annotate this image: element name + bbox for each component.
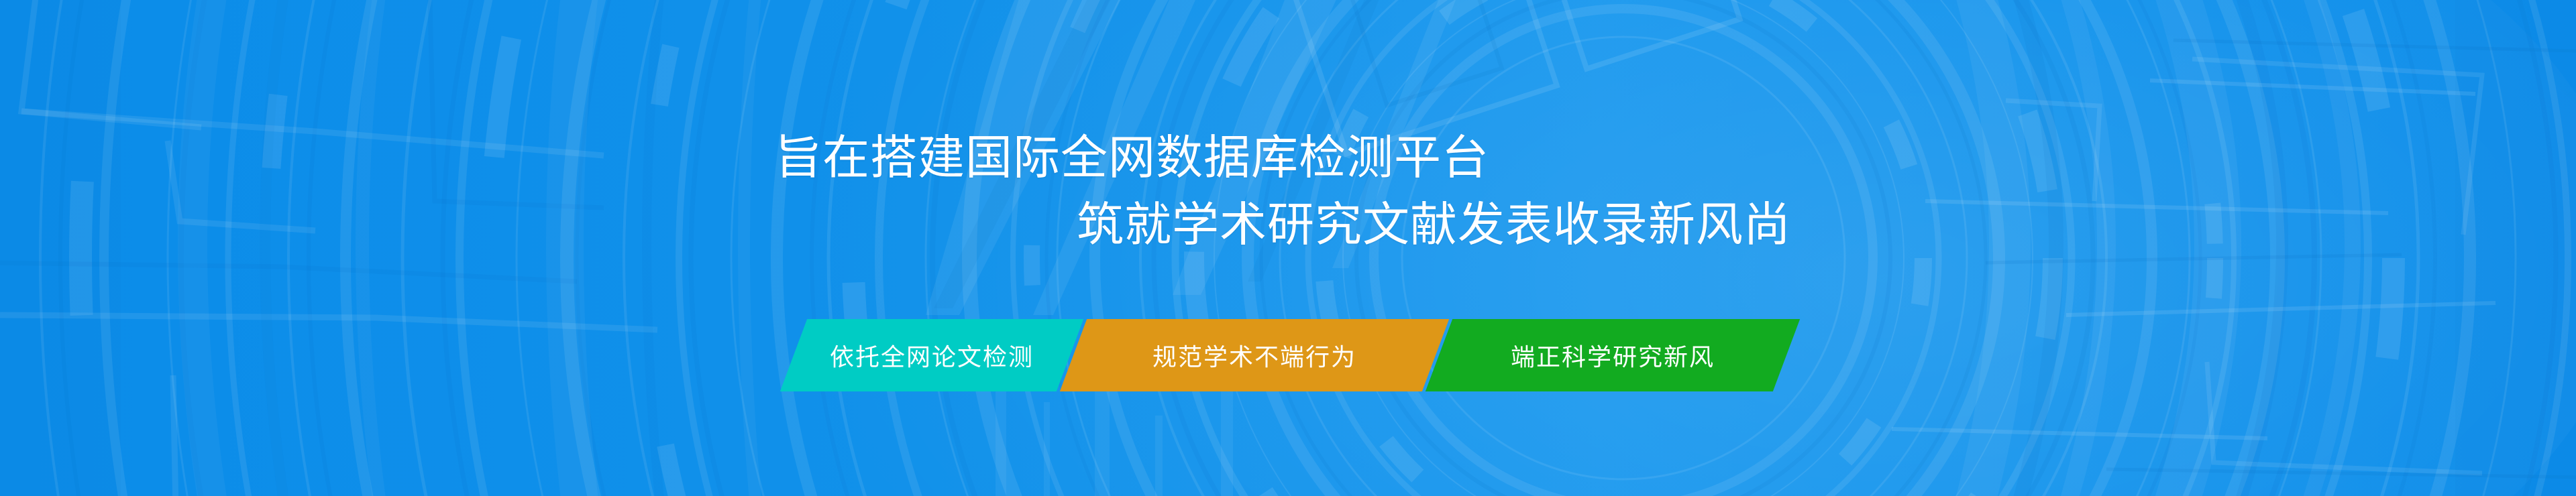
feature-tag-label: 依托全网论文检测 [830,338,1034,373]
feature-tag-label: 端正科学研究新风 [1511,338,1715,373]
promo-banner: 旨在搭建国际全网数据库检测平台 筑就学术研究文献发表收录新风尚 依托全网论文检测… [0,0,2576,496]
background-decoration [0,0,2576,496]
feature-tag-row: 依托全网论文检测 规范学术不端行为 端正科学研究新风 [0,319,2576,391]
feature-tag-academic-misconduct[interactable]: 规范学术不端行为 [1060,319,1449,391]
feature-tag-plagiarism-detection[interactable]: 依托全网论文检测 [780,319,1083,391]
feature-tag-label: 规范学术不端行为 [1152,338,1356,373]
feature-tag-research-integrity[interactable]: 端正科学研究新风 [1426,319,1800,391]
